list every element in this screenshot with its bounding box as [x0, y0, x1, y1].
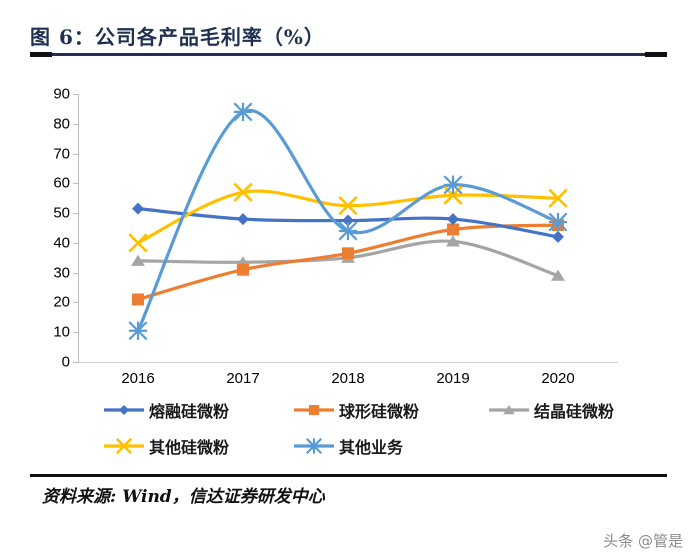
x-axis-tick-label: 2020 — [541, 370, 574, 387]
figure-title-block: 图 6：公司各产品毛利率（%） — [30, 22, 667, 62]
y-axis-tick — [73, 124, 79, 125]
data-point-square — [447, 223, 459, 235]
legend-label: 其他业务 — [339, 434, 403, 458]
chart-legend: 熔融硅微粉球形硅微粉结晶硅微粉其他硅微粉其他业务 — [30, 398, 667, 468]
y-axis-tick — [73, 94, 79, 95]
x-axis-labels: 20162017201820192020 — [78, 370, 618, 396]
legend-marker-cross-icon — [103, 438, 145, 454]
x-axis-tick-label: 2019 — [436, 370, 469, 387]
data-point-square — [237, 264, 249, 276]
x-axis-tick-label: 2016 — [121, 370, 154, 387]
legend-label: 其他硅微粉 — [149, 434, 229, 458]
data-point-diamond — [552, 231, 564, 243]
y-axis-tick-label: 20 — [53, 294, 70, 311]
data-point-square — [342, 247, 354, 259]
legend-item-4[interactable]: 其他硅微粉 — [103, 434, 229, 458]
x-axis-tick-label: 2018 — [331, 370, 364, 387]
data-point-asterisk — [444, 176, 462, 194]
y-axis-tick-label: 10 — [53, 324, 70, 341]
source-divider — [30, 474, 667, 477]
data-point-asterisk — [234, 103, 252, 121]
legend-item-5[interactable]: 其他业务 — [293, 434, 403, 458]
legend-marker-asterisk-icon — [293, 438, 335, 454]
y-axis-tick — [73, 243, 79, 244]
legend-label: 结晶硅微粉 — [534, 398, 614, 422]
figure-container: 图 6：公司各产品毛利率（%） 0102030405060708090 2016… — [0, 0, 697, 559]
legend-marker-triangle-icon — [488, 402, 530, 418]
data-point-diamond — [132, 203, 144, 215]
y-axis-tick-label: 90 — [53, 86, 70, 103]
legend-item-1[interactable]: 熔融硅微粉 — [103, 398, 229, 422]
title-underline — [30, 53, 667, 56]
x-axis-line — [78, 362, 618, 363]
y-axis-tick-label: 80 — [53, 115, 70, 132]
y-axis-tick-label: 30 — [53, 264, 70, 281]
y-axis-labels: 0102030405060708090 — [30, 78, 70, 346]
data-point-diamond — [237, 213, 249, 225]
legend-item-2[interactable]: 球形硅微粉 — [293, 398, 419, 422]
data-point-cross — [129, 234, 146, 251]
y-axis-tick — [73, 273, 79, 274]
data-point-diamond — [447, 213, 459, 225]
watermark: 头条 @管是 — [603, 530, 683, 551]
legend-item-3[interactable]: 结晶硅微粉 — [488, 398, 614, 422]
data-point-square — [132, 293, 144, 305]
data-point-asterisk — [549, 213, 567, 231]
y-axis-tick-label: 40 — [53, 234, 70, 251]
y-axis-tick-label: 70 — [53, 145, 70, 162]
y-axis-tick — [73, 332, 79, 333]
source-note: 资料来源: Wind，信达证券研发中心 — [42, 482, 325, 507]
y-axis-tick — [73, 362, 79, 363]
y-axis-tick-label: 0 — [62, 354, 70, 371]
data-point-asterisk — [129, 322, 147, 340]
data-point-asterisk — [339, 222, 357, 240]
data-point-asterisk — [306, 438, 321, 453]
y-axis-tick-label: 50 — [53, 205, 70, 222]
chart-canvas — [78, 94, 618, 362]
x-axis-tick-label: 2017 — [226, 370, 259, 387]
legend-label: 球形硅微粉 — [339, 398, 419, 422]
data-point-square — [309, 405, 319, 415]
legend-label: 熔融硅微粉 — [149, 398, 229, 422]
legend-marker-diamond-icon — [103, 402, 145, 418]
page-title: 图 6：公司各产品毛利率（%） — [30, 22, 667, 52]
y-axis-tick — [73, 302, 79, 303]
legend-marker-square-icon — [293, 402, 335, 418]
plot-area: 0102030405060708090 20162017201820192020 — [30, 78, 667, 378]
y-axis-tick-label: 60 — [53, 175, 70, 192]
data-point-diamond — [119, 405, 129, 415]
y-axis-tick — [73, 213, 79, 214]
y-axis-tick — [73, 154, 79, 155]
y-axis-tick — [73, 183, 79, 184]
